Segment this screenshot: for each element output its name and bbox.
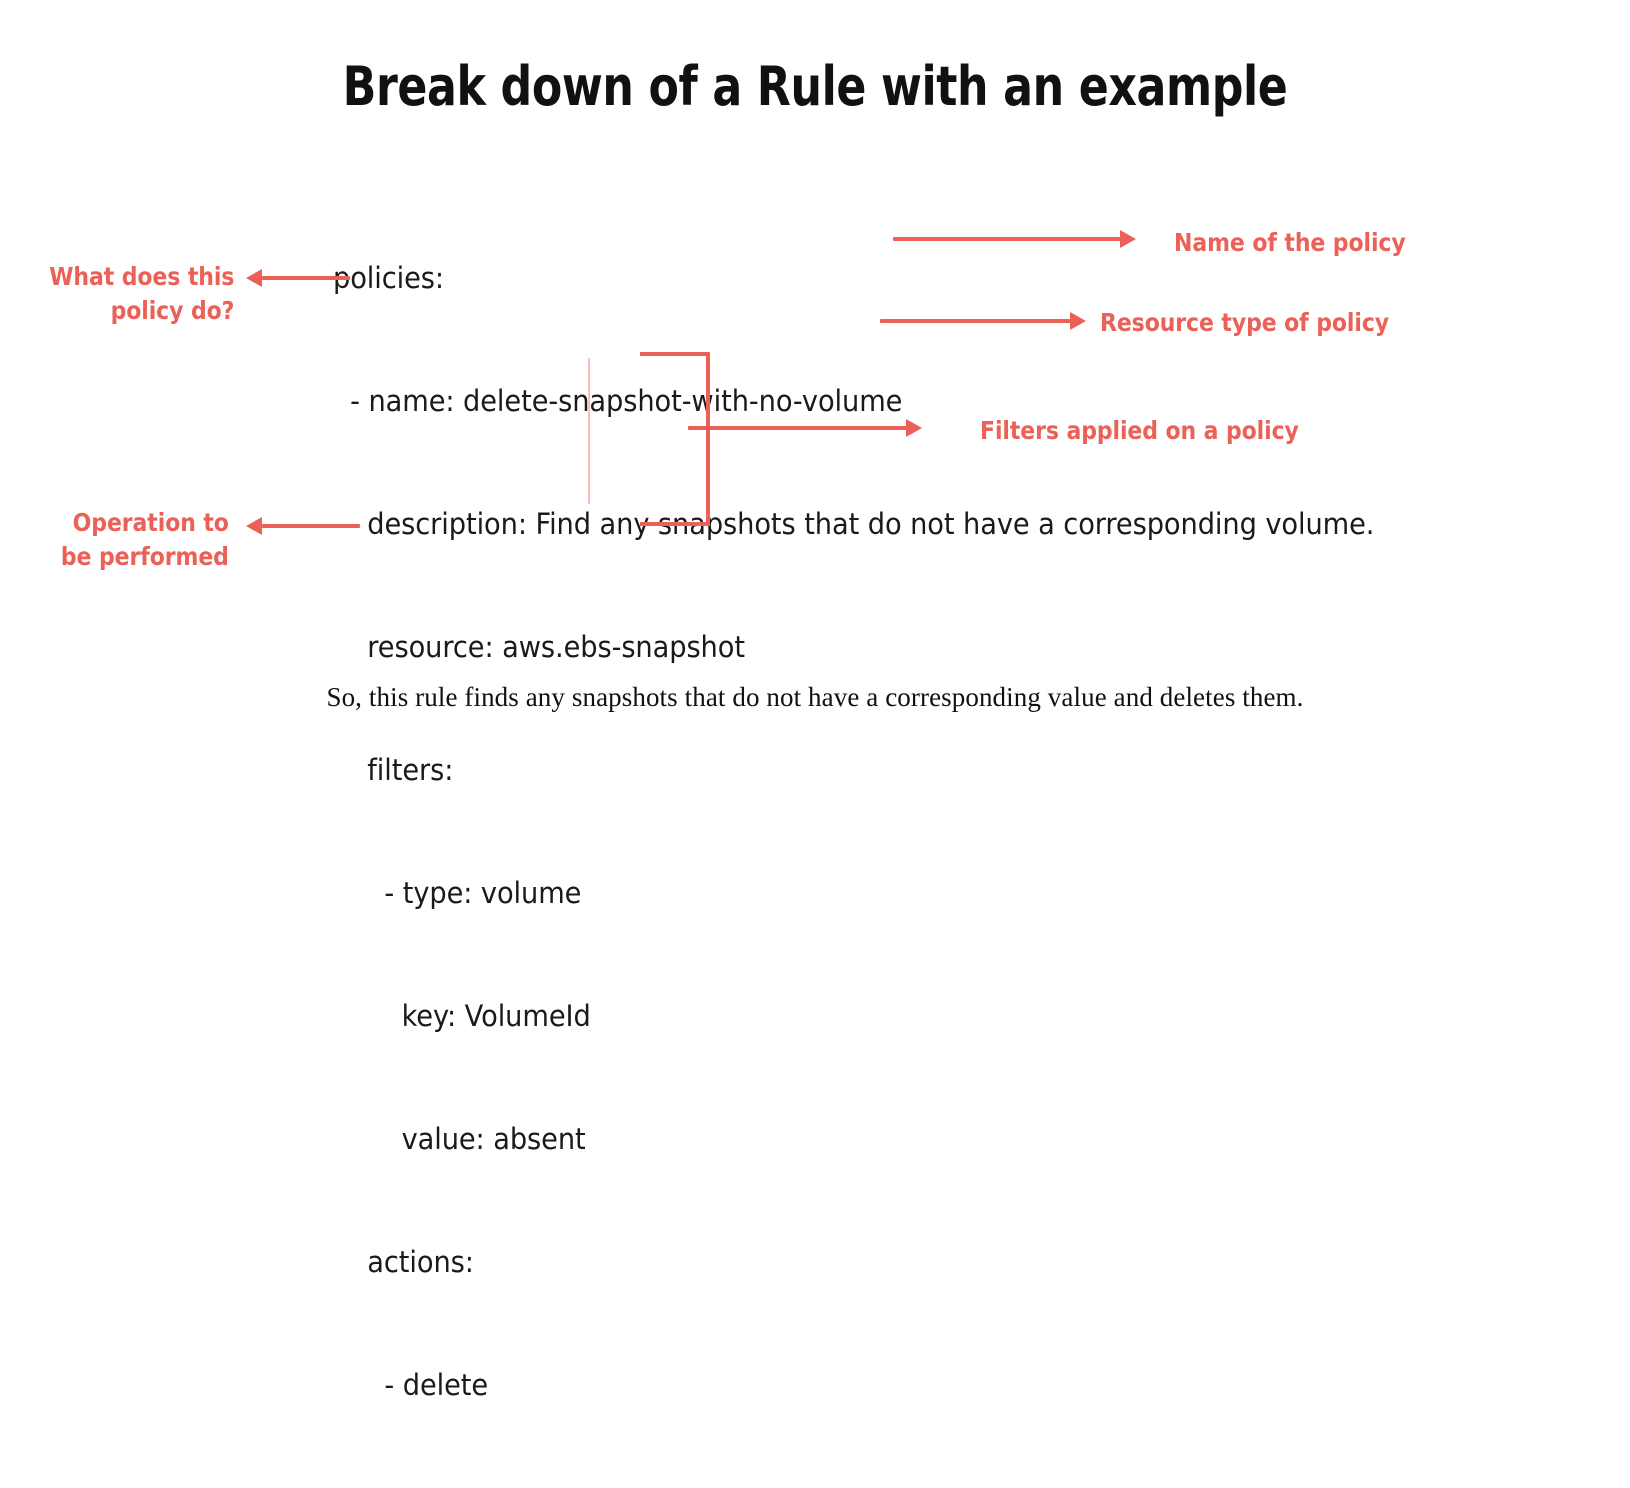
arrow-head-left-icon bbox=[246, 517, 262, 535]
annotation-filters-applied-on-a-policy: Filters applied on a policy bbox=[980, 414, 1299, 448]
yaml-line-delete: - delete bbox=[333, 1365, 1374, 1406]
arrow-head-right-icon bbox=[906, 419, 922, 437]
arrow-line-name-of-policy bbox=[893, 237, 1125, 241]
filters-guide-line bbox=[588, 358, 590, 504]
annotation-name-of-the-policy: Name of the policy bbox=[1174, 226, 1406, 260]
yaml-line-actions: actions: bbox=[333, 1242, 1374, 1283]
filters-bracket-spine bbox=[706, 352, 710, 526]
yaml-line-filters: filters: bbox=[333, 750, 1374, 791]
arrow-line-what-does-policy-do bbox=[262, 276, 350, 280]
slide-canvas: Break down of a Rule with an example pol… bbox=[0, 0, 1630, 872]
arrow-head-left-icon bbox=[246, 269, 262, 287]
page-title: Break down of a Rule with an example bbox=[147, 55, 1484, 118]
filters-bracket-bottom-arm bbox=[640, 522, 710, 526]
yaml-line-value: value: absent bbox=[333, 1119, 1374, 1160]
yaml-line-key: key: VolumeId bbox=[333, 996, 1374, 1037]
yaml-line-description: description: Find any snapshots that do … bbox=[333, 504, 1374, 545]
annotation-what-does-this-policy-do: What does this policy do? bbox=[49, 260, 234, 328]
yaml-code-block: policies: - name: delete-snapshot-with-n… bbox=[333, 176, 1374, 1488]
arrow-line-resource-type bbox=[880, 319, 1074, 323]
yaml-line-resource: resource: aws.ebs-snapshot bbox=[333, 627, 1374, 668]
arrow-head-right-icon bbox=[1070, 312, 1086, 330]
arrow-line-operation-performed bbox=[262, 524, 360, 528]
filters-bracket-top-arm bbox=[640, 352, 710, 356]
annotation-operation-to-be-performed: Operation to be performed bbox=[61, 506, 229, 574]
arrow-head-right-icon bbox=[1120, 230, 1136, 248]
arrow-line-filters-applied bbox=[688, 426, 910, 430]
annotation-resource-type-of-policy: Resource type of policy bbox=[1100, 306, 1389, 340]
summary-caption: So, this rule finds any snapshots that d… bbox=[0, 682, 1630, 713]
yaml-line-type: - type: volume bbox=[333, 873, 1374, 914]
yaml-line-policies: policies: bbox=[333, 258, 1374, 299]
